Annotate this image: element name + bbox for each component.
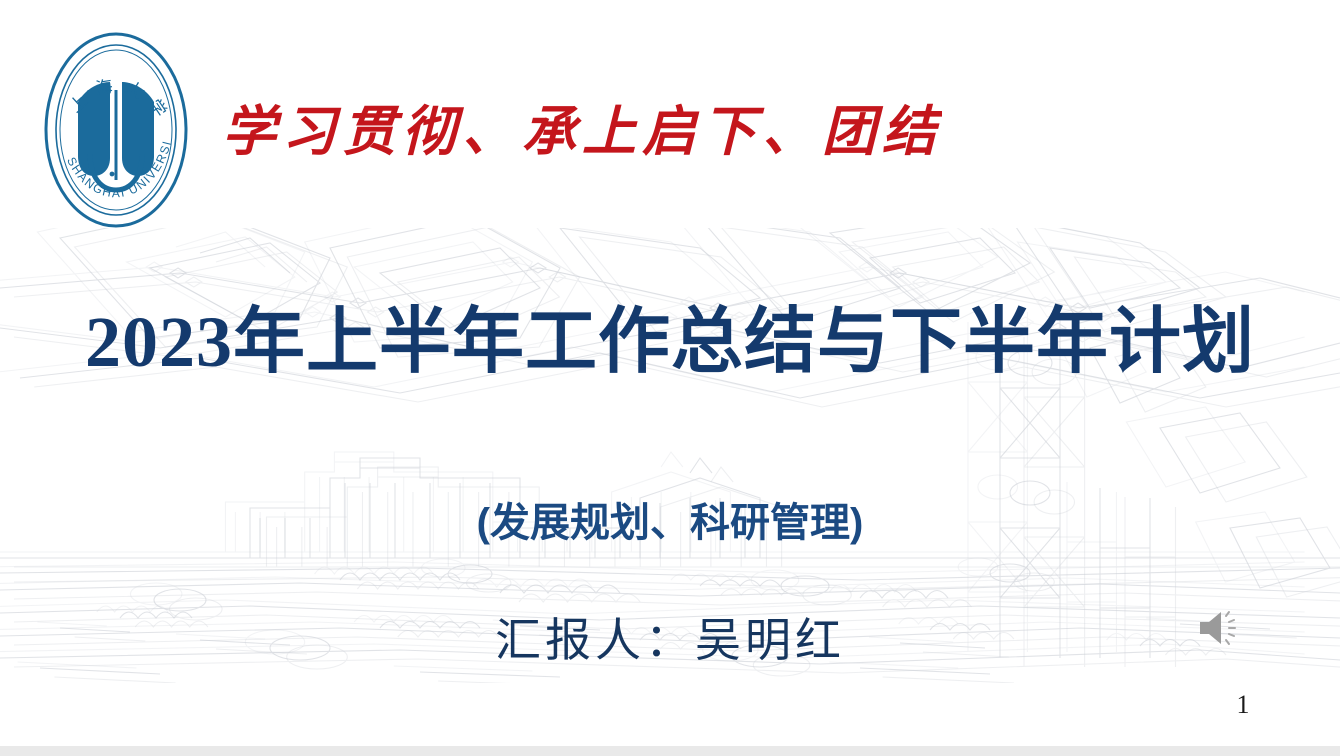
presenter-line: 汇报人：吴明红 [0,604,1340,670]
shanghai-university-logo: 上海大学 SHANGHAI UNIVERSITY [42,30,190,235]
calligraphy-banner-text: 学习贯彻、承上启下、团结奋进 [222,102,942,162]
presentation-slide: 上海大学 SHANGHAI UNIVERSITY 学习贯彻、承上启下、团结奋进 … [0,0,1340,746]
speaker-icon[interactable] [1196,607,1244,649]
slide-number: 1 [1208,690,1278,720]
slide-main-title: 2023年上半年工作总结与下半年计划 [0,306,1340,378]
calligraphy-banner: 学习贯彻、承上启下、团结奋进 [222,94,942,166]
viewer-bottom-strip [0,746,1340,756]
slide-subtitle: (发展规划、科研管理) [0,490,1340,548]
